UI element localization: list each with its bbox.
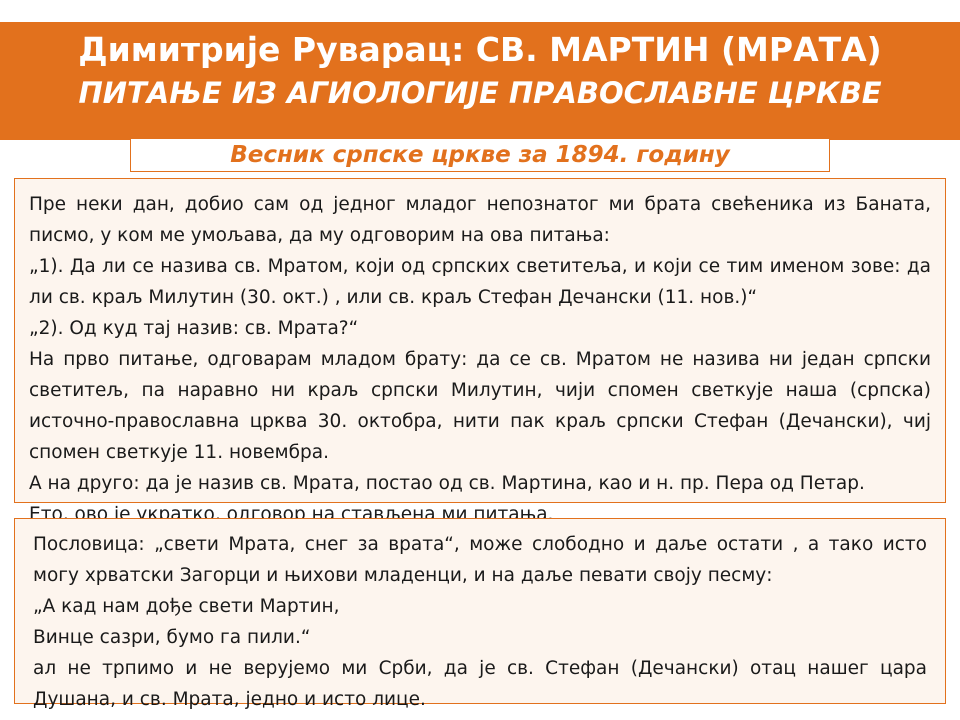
main-text-box: Пре неки дан, добио сам од једног младог… (14, 178, 946, 503)
main-paragraph-4: На прво питање, одговарам младом брату: … (29, 344, 931, 468)
main-paragraph-2: „1). Да ли се назива св. Мратом, који од… (29, 251, 931, 313)
proverb-paragraph-2: „А кад нам дође свети Мартин, (33, 591, 927, 622)
proverb-paragraph-4: ал не трпимо и не верујемо ми Срби, да ј… (33, 653, 927, 715)
source-ribbon-label: Весник српске цркве за 1894. годину (230, 142, 730, 168)
source-ribbon: Весник српске цркве за 1894. годину (130, 138, 830, 172)
proverb-paragraph-1: Пословица: „свети Мрата, снег за врата“,… (33, 529, 927, 591)
main-paragraph-5: А на друго: да је назив св. Мрата, поста… (29, 468, 931, 499)
main-paragraph-1: Пре неки дан, добио сам од једног младог… (29, 189, 931, 251)
proverb-paragraph-3: Винце сазри, бумо га пили.“ (33, 622, 927, 653)
page-title: Димитрије Руварац: СВ. МАРТИН (МРАТА) (78, 28, 882, 72)
slide: Димитрије Руварац: СВ. МАРТИН (МРАТА) ПИ… (0, 0, 960, 720)
proverb-text-box: Пословица: „свети Мрата, снег за врата“,… (14, 518, 946, 704)
page-subtitle: ПИТАЊЕ ИЗ АГИОЛОГИЈЕ ПРАВОСЛАВНЕ ЦРКВЕ (78, 72, 881, 114)
slide-header: Димитрије Руварац: СВ. МАРТИН (МРАТА) ПИ… (0, 22, 960, 140)
main-paragraph-3: „2). Од куд тај назив: св. Мрата?“ (29, 313, 931, 344)
